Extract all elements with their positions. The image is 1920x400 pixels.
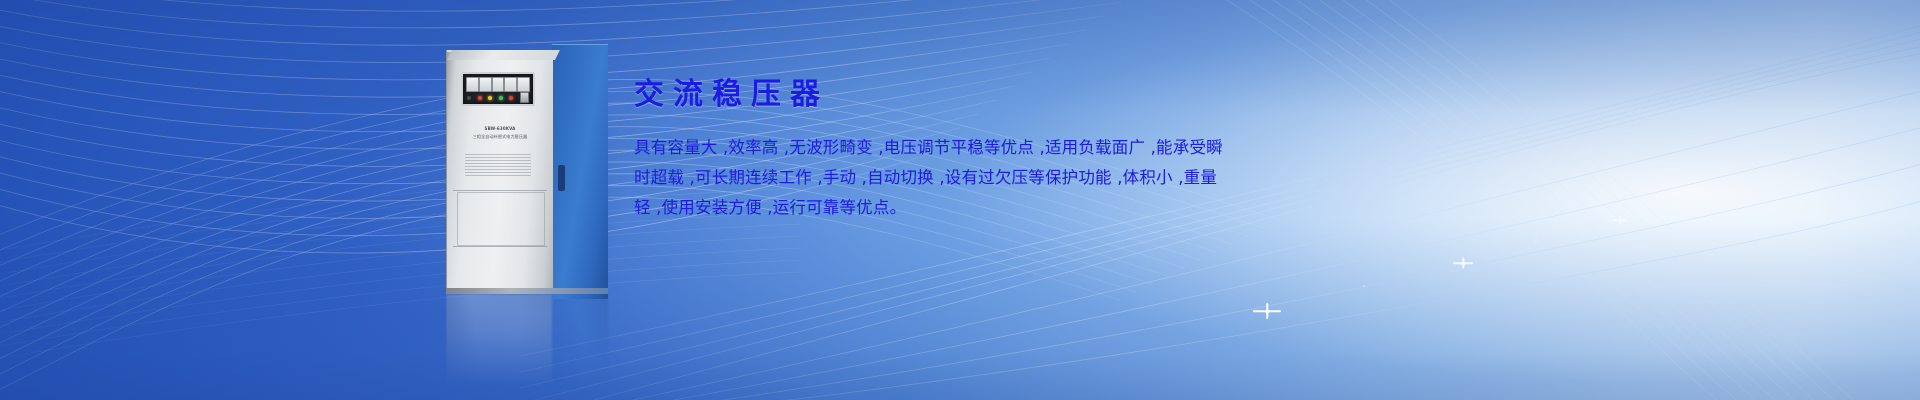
product-banner: SBW-630KVA 三相全自动补偿式电力稳压器 交流稳压器 具有容量大 ,效率…: [0, 0, 1920, 400]
sparkle-glow-layer: [0, 0, 1920, 400]
